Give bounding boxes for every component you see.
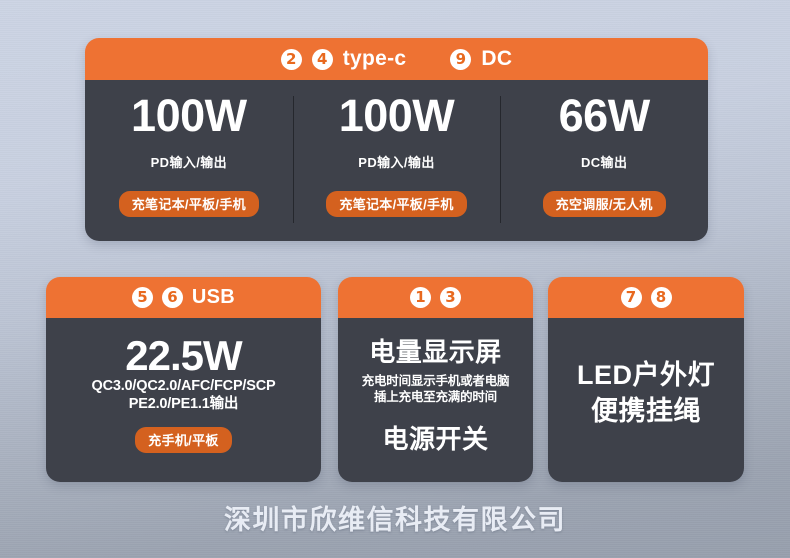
usb-card: 5 6 USB 22.5W QC3.0/QC2.0/AFC/FCP/SCP PE… bbox=[46, 277, 321, 482]
type-c-dc-panel: 2 4 type-c 9 DC 100W PD输入/输出 充笔记本/平板/手机 … bbox=[85, 38, 708, 241]
type-c-group: 2 4 type-c bbox=[281, 47, 407, 71]
display-screen-desc-2: 插上充电至充满的时间 bbox=[374, 390, 497, 406]
led-light-title-2: 便携挂绳 bbox=[591, 394, 701, 430]
type-c-dc-panel-header: 2 4 type-c 9 DC bbox=[85, 38, 708, 80]
port-badge-8: 8 bbox=[651, 287, 672, 308]
wattage-subtitle-dc: DC输出 bbox=[581, 152, 627, 171]
port-badge-2: 2 bbox=[281, 49, 302, 70]
led-light-card-body: LED户外灯 便携挂绳 bbox=[548, 318, 744, 482]
port-badge-3: 3 bbox=[440, 287, 461, 308]
led-light-card-header: 7 8 bbox=[548, 277, 744, 318]
company-name: 深圳市欣维信科技有限公司 bbox=[0, 498, 790, 537]
port-badge-9: 9 bbox=[450, 49, 471, 70]
usage-pill-pd2: 充笔记本/平板/手机 bbox=[326, 191, 466, 217]
wattage-value-pd1: 100W bbox=[131, 92, 247, 139]
port-badge-6: 6 bbox=[162, 287, 183, 308]
usb-label: USB bbox=[192, 286, 235, 309]
display-screen-card-body: 电量显示屏 充电时间显示手机或者电脑 插上充电至充满的时间 电源开关 bbox=[338, 318, 533, 482]
wattage-value-dc: 66W bbox=[559, 92, 650, 139]
led-light-title-1: LED户外灯 bbox=[577, 358, 715, 394]
spec-column-dc: 66W DC输出 充空调服/无人机 bbox=[500, 80, 708, 241]
display-screen-card: 1 3 电量显示屏 充电时间显示手机或者电脑 插上充电至充满的时间 电源开关 bbox=[338, 277, 533, 482]
usb-wattage-value: 22.5W bbox=[125, 334, 241, 378]
display-screen-title: 电量显示屏 bbox=[369, 338, 502, 368]
wattage-subtitle-pd2: PD输入/输出 bbox=[358, 152, 434, 171]
usage-pill-dc: 充空调服/无人机 bbox=[543, 191, 666, 217]
type-c-label: type-c bbox=[343, 47, 407, 71]
spec-column-pd2: 100W PD输入/输出 充笔记本/平板/手机 bbox=[293, 80, 501, 241]
port-badge-1: 1 bbox=[410, 287, 431, 308]
wattage-value-pd2: 100W bbox=[339, 92, 455, 139]
page-stage: 2 4 type-c 9 DC 100W PD输入/输出 充笔记本/平板/手机 … bbox=[0, 0, 790, 558]
spec-column-pd1: 100W PD输入/输出 充笔记本/平板/手机 bbox=[85, 80, 293, 241]
led-light-card: 7 8 LED户外灯 便携挂绳 bbox=[548, 277, 744, 482]
port-badge-7: 7 bbox=[621, 287, 642, 308]
usb-card-header: 5 6 USB bbox=[46, 277, 321, 318]
power-switch-title: 电源开关 bbox=[382, 419, 488, 456]
dc-label: DC bbox=[481, 47, 512, 71]
wattage-subtitle-pd1: PD输入/输出 bbox=[151, 152, 227, 171]
usb-protocol-line-2: PE2.0/PE1.1输出 bbox=[129, 396, 238, 414]
usb-protocol-line-1: QC3.0/QC2.0/AFC/FCP/SCP bbox=[92, 378, 276, 396]
usb-usage-pill: 充手机/平板 bbox=[135, 427, 231, 453]
usb-card-body: 22.5W QC3.0/QC2.0/AFC/FCP/SCP PE2.0/PE1.… bbox=[46, 318, 321, 482]
port-badge-5: 5 bbox=[132, 287, 153, 308]
display-screen-desc-1: 充电时间显示手机或者电脑 bbox=[362, 374, 510, 390]
usage-pill-pd1: 充笔记本/平板/手机 bbox=[119, 191, 259, 217]
type-c-dc-panel-body: 100W PD输入/输出 充笔记本/平板/手机 100W PD输入/输出 充笔记… bbox=[85, 80, 708, 241]
display-screen-card-header: 1 3 bbox=[338, 277, 533, 318]
dc-group: 9 DC bbox=[450, 47, 512, 71]
port-badge-4: 4 bbox=[312, 49, 333, 70]
